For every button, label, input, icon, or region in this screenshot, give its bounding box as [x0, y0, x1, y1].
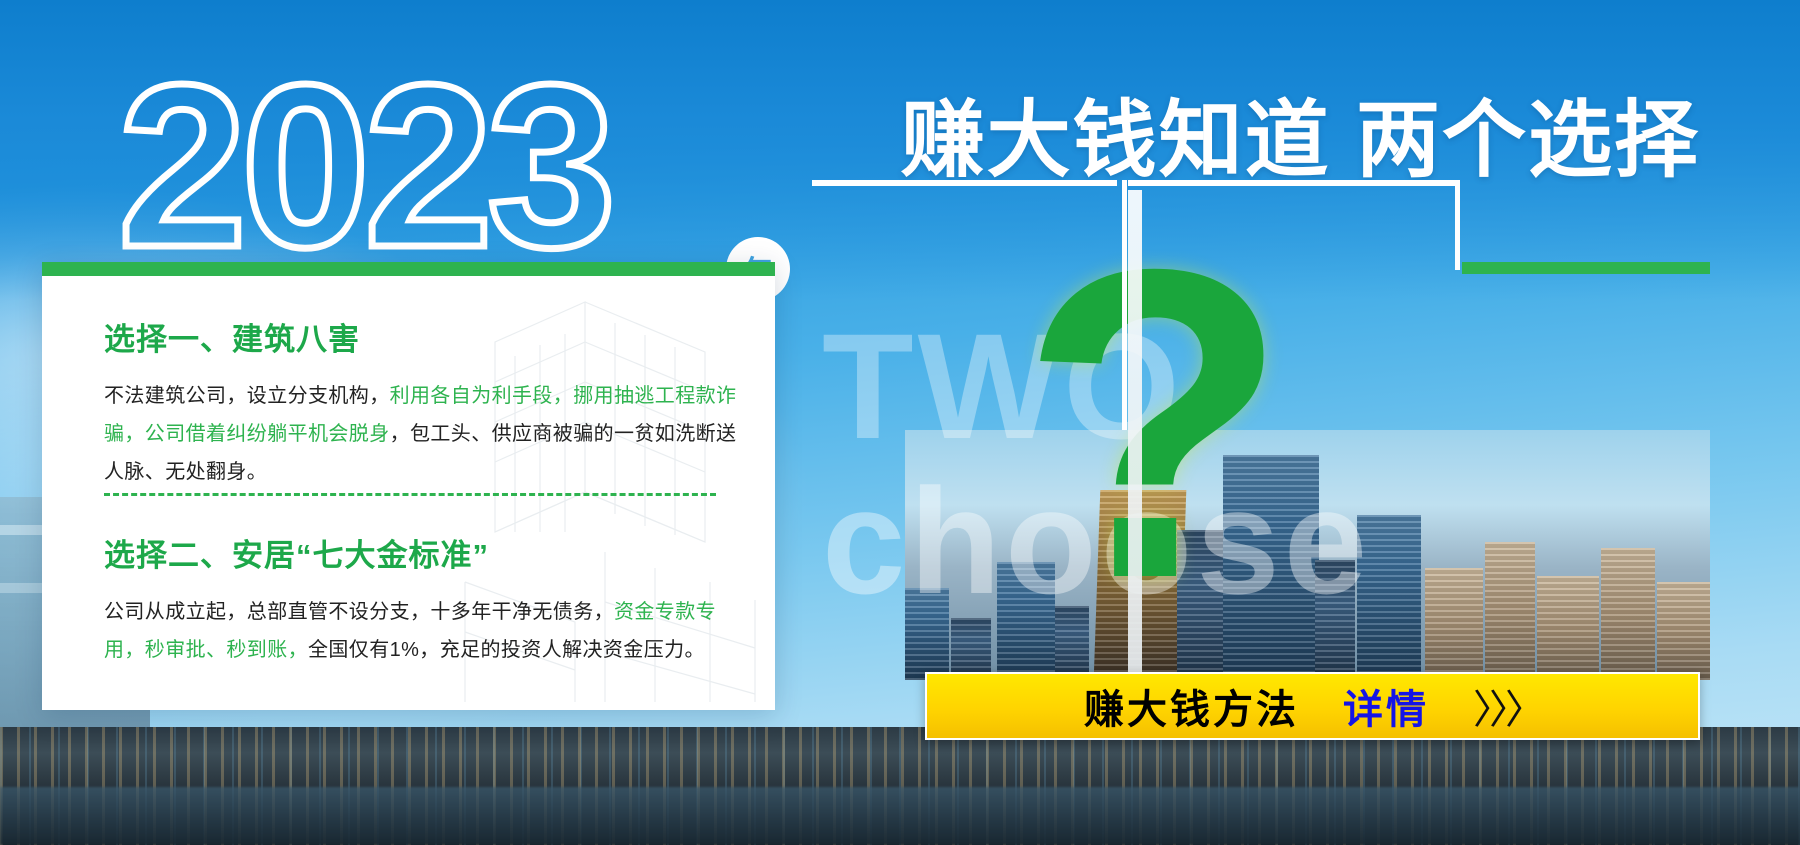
section-title-1: 选择一、建筑八害	[104, 314, 741, 359]
photo-frame-line-right	[1455, 180, 1460, 270]
promo-banner: TWO choose ? 2023 年 赚大钱知道 两个选择	[0, 0, 1800, 845]
headline-rule-left	[812, 180, 1117, 186]
card-divider	[104, 493, 716, 496]
card-top-green-bar	[42, 262, 775, 276]
cta-main-label: 赚大钱方法	[1084, 677, 1299, 735]
water-reflection	[0, 787, 1800, 845]
section-1-run-1: 不法建筑公司，设立分支机构，	[104, 385, 390, 407]
info-card: 选择一、建筑八害 不法建筑公司，设立分支机构，利用各自为利手段，挪用抽逃工程款诈…	[42, 262, 775, 710]
year-number: 2023	[118, 52, 718, 282]
question-mark-sliver	[1128, 190, 1142, 690]
chevron-right-icon: 〉〉〉	[1473, 677, 1541, 735]
card-body-2: 选择二、安居“七大金标准” 公司从成立起，总部直管不设分支，十多年干净无债务，资…	[104, 530, 741, 669]
card-body: 选择一、建筑八害 不法建筑公司，设立分支机构，利用各自为利手段，挪用抽逃工程款诈…	[104, 314, 741, 491]
section-text-1: 不法建筑公司，设立分支机构，利用各自为利手段，挪用抽逃工程款诈骗，公司借着纠纷躺…	[104, 377, 741, 491]
headline-rule-right	[1128, 180, 1458, 186]
bottom-cityscape-strip	[0, 727, 1800, 845]
right-green-accent-bar	[1462, 262, 1710, 274]
section-title-2: 选择二、安居“七大金标准”	[104, 530, 741, 575]
page-title: 赚大钱知道 两个选择	[680, 78, 1700, 188]
section-2-run-3: 全国仅有1%，充足的投资人解决资金压力。	[308, 639, 705, 661]
cta-sub-label: 详情	[1343, 677, 1429, 735]
question-mark-graphic: ?	[1020, 205, 1289, 645]
cta-button[interactable]: 赚大钱方法 详情 〉〉〉	[925, 672, 1700, 740]
section-text-2: 公司从成立起，总部直管不设分支，十多年干净无债务，资金专款专用，秒审批、秒到账，…	[104, 593, 741, 669]
photo-frame-line-left	[1122, 180, 1127, 430]
year-block: 2023 年	[118, 52, 718, 282]
section-2-run-1: 公司从成立起，总部直管不设分支，十多年干净无债务，	[104, 601, 614, 623]
